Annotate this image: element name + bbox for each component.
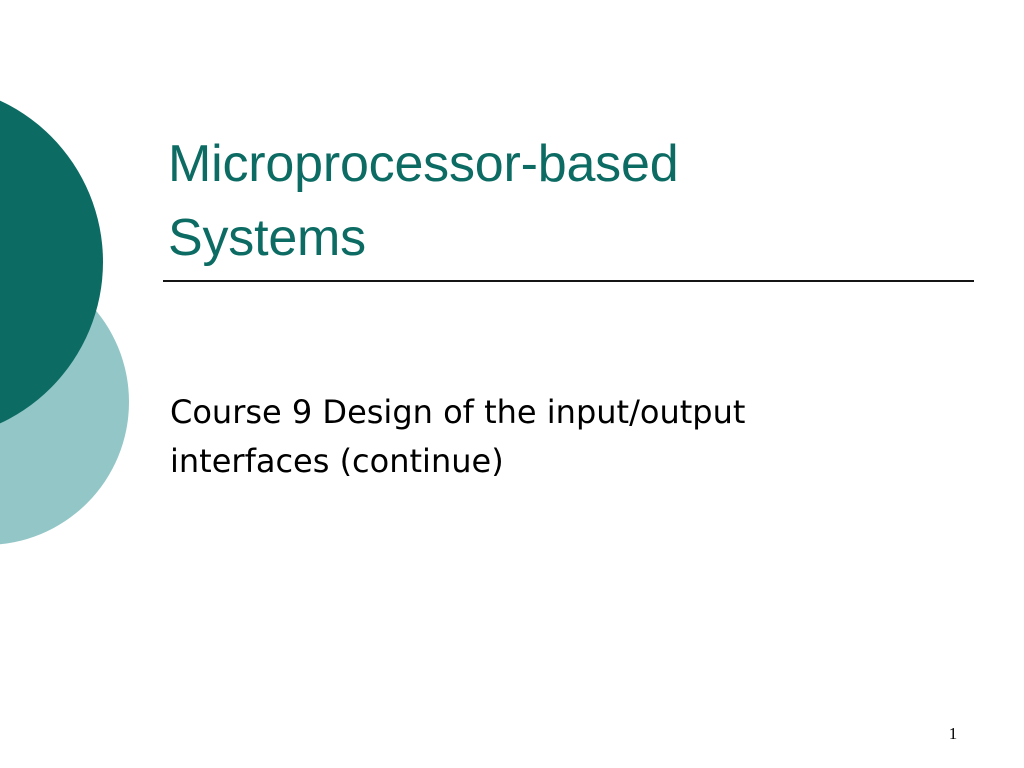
subtitle-block: Course 9 Design of the input/output inte…: [170, 388, 960, 485]
title-slide: Microprocessor-based Systems Course 9 De…: [0, 0, 1024, 768]
page-title: Microprocessor-based Systems: [168, 128, 978, 276]
title-block: Microprocessor-based Systems: [168, 128, 978, 276]
page-number: 1: [930, 724, 976, 744]
title-divider: [163, 280, 974, 282]
slide-subtitle: Course 9 Design of the input/output inte…: [170, 388, 960, 485]
light-teal-circle: [0, 259, 129, 545]
dark-teal-circle: [0, 84, 103, 440]
decorative-circles: [0, 0, 1024, 768]
